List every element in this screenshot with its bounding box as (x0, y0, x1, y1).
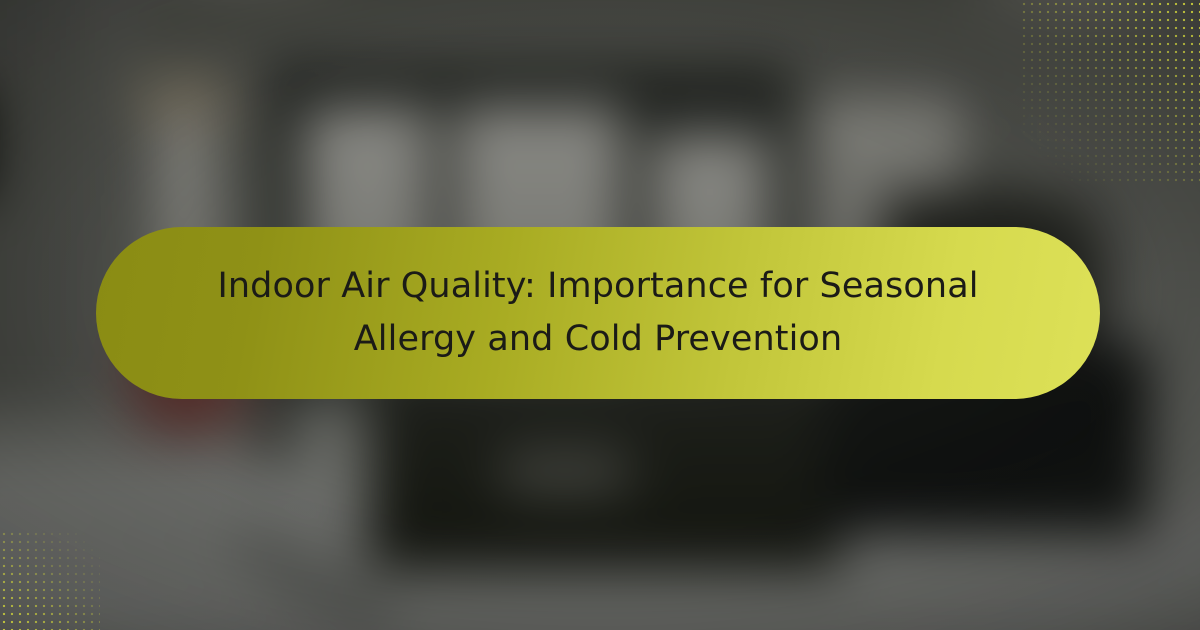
title-pill: Indoor Air Quality: Importance for Seaso… (96, 227, 1100, 399)
dot-grid-top-right (1020, 0, 1200, 186)
dot-grid-bottom-left (0, 530, 100, 630)
page-title: Indoor Air Quality: Importance for Seaso… (158, 260, 1038, 366)
social-card-canvas: Indoor Air Quality: Importance for Seaso… (0, 0, 1200, 630)
